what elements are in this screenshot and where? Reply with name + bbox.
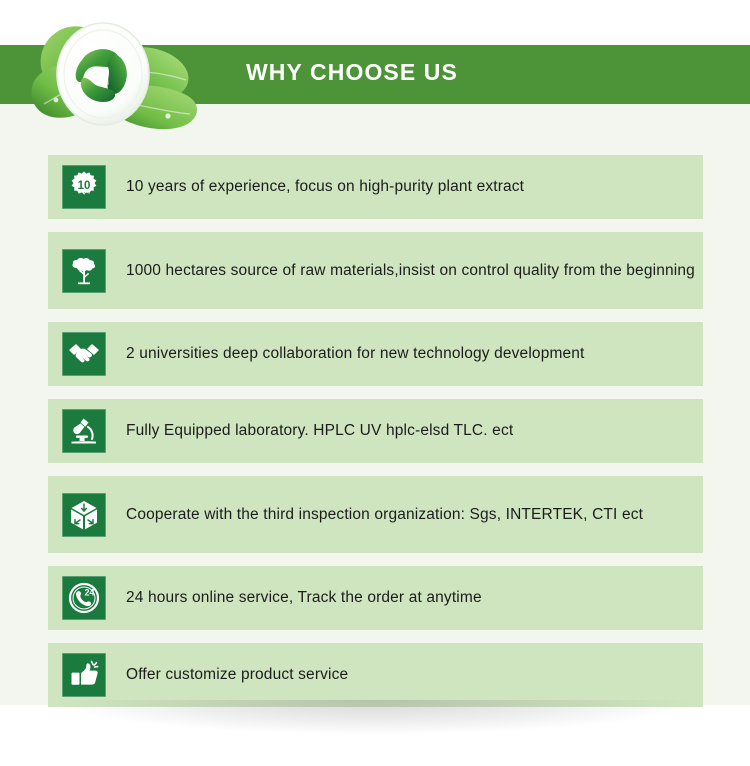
list-item-label: 1000 hectares source of raw materials,in… (126, 260, 695, 282)
list-item-label: 10 years of experience, focus on high-pu… (126, 176, 524, 198)
page-title: WHY CHOOSE US (246, 59, 458, 86)
list-item-label: Cooperate with the third inspection orga… (126, 504, 643, 526)
list-item-label: 2 universities deep collaboration for ne… (126, 343, 585, 365)
logo-disc (57, 23, 149, 125)
microscope-icon (62, 409, 106, 453)
inspection-cube-icon (62, 493, 106, 537)
list-item[interactable]: 24 24 hours online service, Track the or… (48, 566, 703, 630)
svg-text:years: years (78, 192, 91, 198)
tree-icon (62, 249, 106, 293)
list-item-label: Fully Equipped laboratory. HPLC UV hplc-… (126, 420, 513, 442)
clock-phone-24-icon: 24 (62, 576, 106, 620)
list-item-label: Offer customize product service (126, 664, 348, 686)
thumbs-up-icon (62, 653, 106, 697)
list-item[interactable]: Fully Equipped laboratory. HPLC UV hplc-… (48, 399, 703, 463)
list-item[interactable]: 1000 hectares source of raw materials,in… (48, 232, 703, 309)
why-choose-us-banner: WHY CHOOSE US (0, 0, 750, 766)
list-item[interactable]: 2 universities deep collaboration for ne… (48, 322, 703, 386)
feature-list: 10 years 10 years of experience, focus o… (48, 155, 703, 720)
list-item[interactable]: 10 years 10 years of experience, focus o… (48, 155, 703, 219)
list-item-label: 24 hours online service, Track the order… (126, 587, 482, 609)
svg-text:10: 10 (78, 180, 91, 192)
panel-drop-shadow (60, 700, 690, 734)
svg-text:24: 24 (84, 588, 94, 598)
list-item[interactable]: Cooperate with the third inspection orga… (48, 476, 703, 553)
handshake-icon (62, 332, 106, 376)
list-item[interactable]: Offer customize product service (48, 643, 703, 707)
company-leaf-logo (18, 12, 233, 134)
ten-years-badge-icon: 10 years (62, 165, 106, 209)
